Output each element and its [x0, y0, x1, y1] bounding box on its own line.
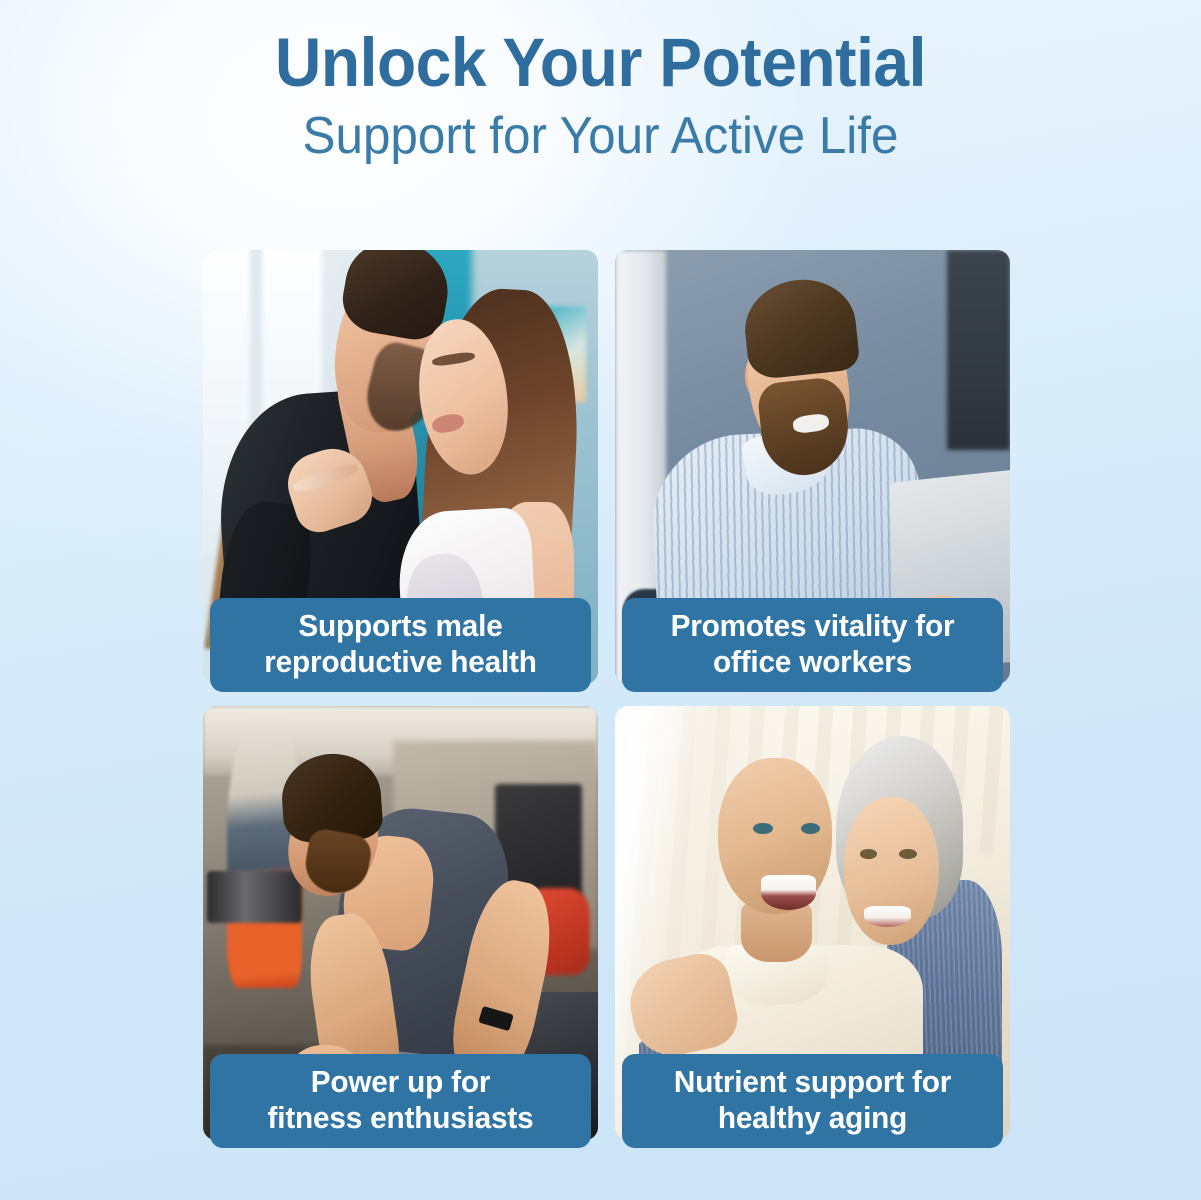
caption-line-2: healthy aging — [637, 1100, 987, 1136]
caption-line-1: Nutrient support for — [637, 1064, 987, 1100]
caption-line-2: office workers — [637, 644, 987, 680]
card-caption: Nutrient support for healthy aging — [622, 1054, 1003, 1148]
caption-line-1: Supports male — [225, 608, 575, 644]
card-caption: Supports male reproductive health — [210, 598, 591, 692]
benefit-card-grid: Supports male reproductive health Promot… — [203, 250, 1010, 1140]
promo-banner: Unlock Your Potential Support for Your A… — [0, 0, 1201, 1200]
caption-line-1: Power up for — [225, 1064, 575, 1100]
caption-line-2: fitness enthusiasts — [225, 1100, 575, 1136]
benefit-card-fitness-enthusiasts[interactable]: Power up for fitness enthusiasts — [203, 706, 598, 1140]
card-caption: Promotes vitality for office workers — [622, 598, 1003, 692]
page-subtitle: Support for Your Active Life — [30, 109, 1171, 164]
benefit-card-office-worker-vitality[interactable]: Promotes vitality for office workers — [615, 250, 1010, 684]
benefit-card-healthy-aging[interactable]: Nutrient support for healthy aging — [615, 706, 1010, 1140]
benefit-card-male-reproductive-health[interactable]: Supports male reproductive health — [203, 250, 598, 684]
caption-line-2: reproductive health — [225, 644, 575, 680]
card-caption: Power up for fitness enthusiasts — [210, 1054, 591, 1148]
caption-line-1: Promotes vitality for — [637, 608, 987, 644]
page-title: Unlock Your Potential — [42, 28, 1159, 97]
header: Unlock Your Potential Support for Your A… — [0, 28, 1201, 164]
